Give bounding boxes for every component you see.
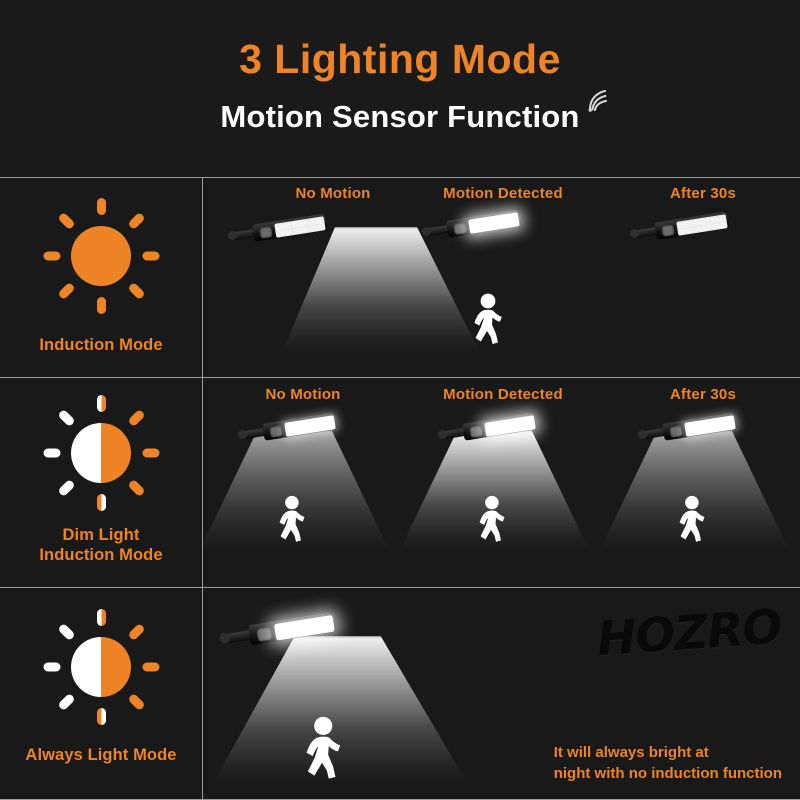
- mode-row-dim-light: Dim Light Induction Mode No Motion Motio…: [0, 378, 800, 588]
- page-title: 3 Lighting Mode: [0, 36, 800, 83]
- street-lamp-icon-dim-1: [241, 416, 341, 446]
- street-lamp-icon-off-1: [231, 217, 331, 247]
- walking-person-icon-5: [295, 716, 349, 780]
- column-header-no-motion-1: No Motion: [243, 185, 423, 202]
- mode-label-dim-light-line2: Induction Mode: [0, 545, 202, 565]
- column-header-after-30s-2: After 30s: [608, 386, 798, 403]
- modes-grid: Induction Mode No Motion Motion Detected…: [0, 177, 800, 800]
- walking-person-icon-2: [271, 495, 311, 543]
- brand-watermark: HOZRO: [596, 600, 784, 668]
- street-lamp-icon-on-1: [425, 213, 525, 243]
- mode-label-induction: Induction Mode: [0, 335, 202, 355]
- column-header-no-motion-2: No Motion: [208, 386, 398, 403]
- subtitle-row: Motion Sensor Function: [0, 99, 800, 135]
- column-header-after-30s-1: After 30s: [608, 185, 798, 202]
- mode-cell-dim-light[interactable]: Dim Light Induction Mode: [0, 378, 202, 588]
- page-subtitle: Motion Sensor Function: [220, 99, 579, 135]
- walking-person-icon-4: [671, 495, 711, 543]
- signal-wave-icon: [584, 85, 614, 115]
- mode-row-always-light: Always Light Mode HOZRO It will always b…: [0, 588, 800, 800]
- street-lamp-icon-on-2: [441, 416, 541, 446]
- page-subtitle-text: Motion Sensor Function: [220, 99, 579, 134]
- always-light-caption-line2: night with no induction function: [554, 763, 782, 784]
- scene-cell-induction: No Motion Motion Detected After 30s: [203, 177, 800, 378]
- always-light-caption: It will always bright at night with no i…: [554, 742, 782, 784]
- header-banner: 3 Lighting Mode Motion Sensor Function: [0, 0, 800, 177]
- walking-person-icon-1: [465, 293, 509, 345]
- mode-row-induction: Induction Mode No Motion Motion Detected…: [0, 177, 800, 378]
- scene-cell-always-light: HOZRO It will always bright at night wit…: [203, 588, 800, 800]
- walking-person-icon-3: [471, 495, 511, 543]
- mode-label-dim-light-line1: Dim Light: [0, 525, 202, 545]
- mode-cell-induction[interactable]: Induction Mode: [0, 177, 202, 378]
- sun-half-icon-1: [42, 394, 160, 512]
- sun-half-icon-2: [42, 608, 160, 726]
- column-header-motion-detected-2: Motion Detected: [408, 386, 598, 403]
- always-light-caption-line1: It will always bright at: [554, 742, 782, 763]
- scene-cell-dim-light: No Motion Motion Detected After 30s: [203, 378, 800, 588]
- street-lamp-icon-on-3: [223, 616, 365, 658]
- sun-full-icon: [42, 197, 160, 315]
- mode-label-always-light: Always Light Mode: [0, 745, 202, 765]
- mode-cell-always-light[interactable]: Always Light Mode: [0, 588, 202, 800]
- street-lamp-icon-off-2: [633, 215, 733, 245]
- column-header-motion-detected-1: Motion Detected: [408, 185, 598, 202]
- street-lamp-icon-dim-2: [641, 416, 741, 446]
